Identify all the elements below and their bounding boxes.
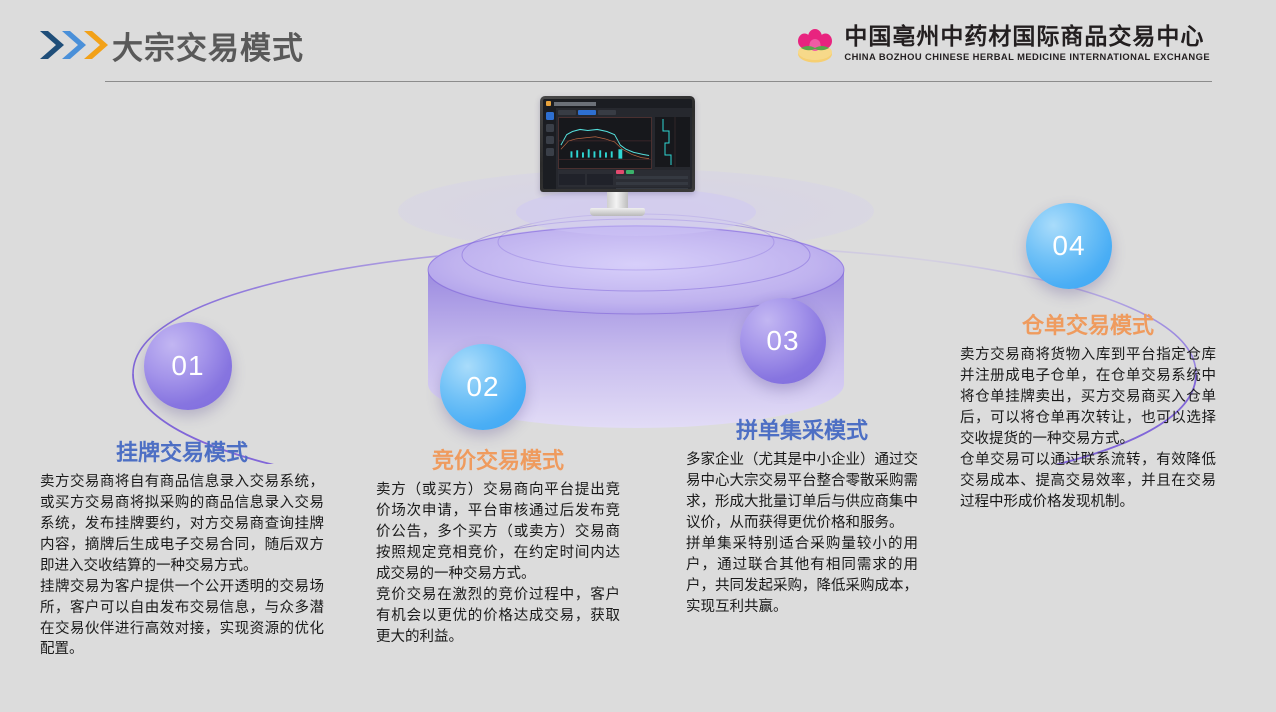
order-depth-chart xyxy=(655,117,690,167)
mode-column-04: 仓单交易模式 卖方交易商将货物入库到平台指定仓库并注册成电子仓单，在仓单交易系统… xyxy=(960,313,1216,512)
step-bubble-01[interactable]: 01 xyxy=(144,322,232,410)
mode-body-01: 卖方交易商将自有商品信息录入交易系统，或买方交易商将拟采购的商品信息录入交易系统… xyxy=(40,472,324,660)
step-bubble-01-label: 01 xyxy=(171,350,204,382)
step-bubble-04[interactable]: 04 xyxy=(1026,203,1112,289)
mode-title-01: 挂牌交易模式 xyxy=(40,440,324,466)
mode-column-03: 拼单集采模式 多家企业（尤其是中小企业）通过交易中心大宗交易平台整合零散采购需求… xyxy=(686,418,918,617)
price-chart xyxy=(558,117,652,169)
mode-body-04-p2: 仓单交易可以通过联系流转，有效降低交易成本、提高交易效率，并且在交易过程中形成价… xyxy=(960,450,1216,513)
mode-body-01-p2: 挂牌交易为客户提供一个公开透明的交易场所，客户可以自由发布交易信息，与众多潜在交… xyxy=(40,577,324,661)
brand-name-en: CHINA BOZHOU CHINESE HERBAL MEDICINE INT… xyxy=(844,51,1210,62)
header-divider xyxy=(105,81,1212,82)
lotus-icon xyxy=(795,22,835,64)
mode-column-02: 竞价交易模式 卖方（或买方）交易商向平台提出竞价场次申请，平台审核通过后发布竞价… xyxy=(376,448,620,647)
mode-body-01-p1: 卖方交易商将自有商品信息录入交易系统，或买方交易商将拟采购的商品信息录入交易系统… xyxy=(40,472,324,576)
mode-body-04-p1: 卖方交易商将货物入库到平台指定仓库并注册成电子仓单，在仓单交易系统中将仓单挂牌卖… xyxy=(960,345,1216,449)
brand-logo: 中国亳州中药材国际商品交易中心 CHINA BOZHOU CHINESE HER… xyxy=(795,22,1210,64)
slide-header: 大宗交易模式 中国亳州中药材国际商品交易中心 CHINA BOZHOU CHIN… xyxy=(0,0,1276,90)
step-bubble-03[interactable]: 03 xyxy=(740,298,826,384)
mode-column-01: 挂牌交易模式 卖方交易商将自有商品信息录入交易系统，或买方交易商将拟采购的商品信… xyxy=(40,440,324,660)
order-table xyxy=(558,170,690,187)
mode-body-02: 卖方（或买方）交易商向平台提出竞价场次申请，平台审核通过后发布竞价公告，多个买方… xyxy=(376,480,620,647)
mode-body-02-p1: 卖方（或买方）交易商向平台提出竞价场次申请，平台审核通过后发布竞价公告，多个买方… xyxy=(376,480,620,584)
mode-body-03-p2: 拼单集采特别适合采购量较小的用户，通过联合其他有相同需求的用户，共同发起采购，降… xyxy=(686,534,918,618)
step-bubble-02[interactable]: 02 xyxy=(440,344,526,430)
mode-body-03-p1: 多家企业（尤其是中小企业）通过交易中心大宗交易平台整合零散采购需求，形成大批量订… xyxy=(686,450,918,534)
monitor-stand-foot xyxy=(590,208,645,216)
monitor-illustration xyxy=(540,96,695,192)
step-bubble-02-label: 02 xyxy=(466,371,499,403)
brand-name-cn: 中国亳州中药材国际商品交易中心 xyxy=(844,24,1210,48)
step-bubble-04-label: 04 xyxy=(1052,230,1085,262)
mode-body-03: 多家企业（尤其是中小企业）通过交易中心大宗交易平台整合零散采购需求，形成大批量订… xyxy=(686,450,918,617)
mode-title-02: 竞价交易模式 xyxy=(376,448,620,474)
mode-body-02-p2: 竞价交易在激烈的竞价过程中，客户有机会以更优的价格达成交易，获取更大的利益。 xyxy=(376,585,620,648)
mode-title-03: 拼单集采模式 xyxy=(686,418,918,444)
terminal-logo-icon xyxy=(546,101,551,106)
mode-title-04: 仓单交易模式 xyxy=(960,313,1216,339)
monitor-bezel xyxy=(540,96,695,192)
step-bubble-03-label: 03 xyxy=(766,325,799,357)
slide-canvas: 大宗交易模式 中国亳州中药材国际商品交易中心 CHINA BOZHOU CHIN… xyxy=(0,0,1276,712)
page-title: 大宗交易模式 xyxy=(112,23,304,68)
trading-terminal-screen xyxy=(543,99,692,189)
mode-body-04: 卖方交易商将货物入库到平台指定仓库并注册成电子仓单，在仓单交易系统中将仓单挂牌卖… xyxy=(960,345,1216,512)
chevrons-icon xyxy=(38,29,108,61)
